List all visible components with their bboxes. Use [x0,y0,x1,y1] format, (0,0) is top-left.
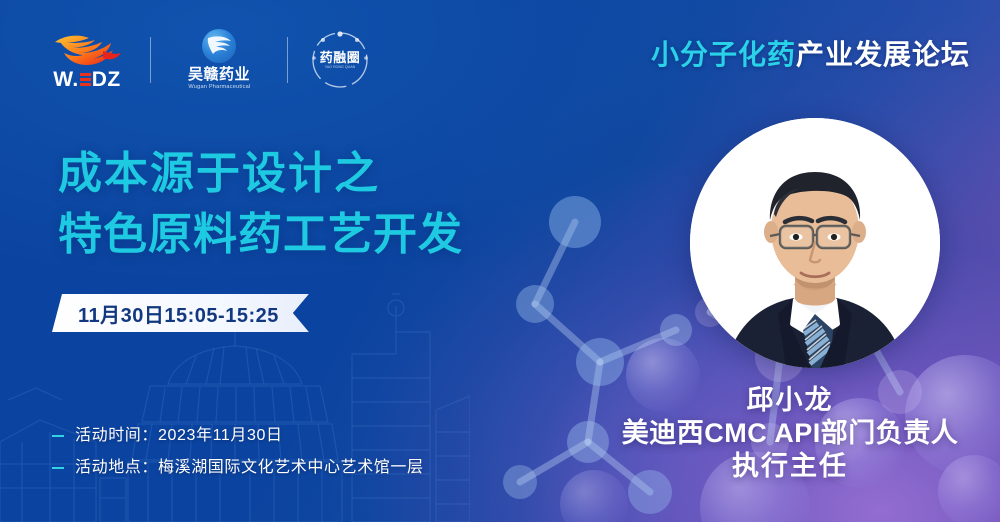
forum-title-rest: 产业发展论坛 [796,39,970,70]
logo-row: W. DZ 吴赣药业 Wugan Pharmaceutical [44,24,372,96]
event-date-label: 活动时间：2023年11月30日 [75,428,283,444]
speaker-name: 邱小龙 [590,384,990,417]
wedz-wordmark-left: W. [53,69,79,90]
logo-wedz[interactable]: W. DZ [44,24,130,96]
wugan-cn-name: 吴赣药业 [188,67,250,82]
session-time-label: 11月30日15:05-15:25 [78,299,279,328]
dash-icon [52,467,64,469]
page-title: 成本源于设计之 特色原料药工艺开发 [58,144,463,265]
dash-icon [52,435,64,437]
logo-divider [150,37,151,83]
wedz-wordmark-right: DZ [92,69,121,90]
session-time-badge: 11月30日15:05-15:25 [52,294,309,332]
forum-title-highlight: 小分子化药 [651,39,796,70]
speaker-role-line-1: 美迪西CMC API部门负责人 [590,417,990,450]
wugan-en-name: Wugan Pharmaceutical [188,85,250,91]
headline-line-2: 特色原料药工艺开发 [58,205,463,266]
speaker-info: 邱小龙 美迪西CMC API部门负责人 执行主任 [590,384,990,484]
wedz-wordmark: W. DZ [53,69,121,90]
forum-title: 小分子化药产业发展论坛 [651,38,970,72]
logo-wugan-pharmaceutical[interactable]: 吴赣药业 Wugan Pharmaceutical [171,24,267,96]
speaker-role-line-2: 执行主任 [590,450,990,483]
triple-bar-icon [80,73,91,86]
event-info-block: 活动时间：2023年11月30日 活动地点：梅溪湖国际文化艺术中心艺术馆一层 [52,428,424,492]
speaker-portrait-wrap [690,118,940,368]
event-venue-label: 活动地点：梅溪湖国际文化艺术中心艺术馆一层 [75,460,424,476]
event-banner: W. DZ 吴赣药业 Wugan Pharmaceutical [0,0,1000,522]
logo-yaorongquan[interactable]: 药融圈 YAO RONG QUAN [308,24,372,96]
yaorongquan-en-name: YAO RONG QUAN [325,66,355,70]
event-venue-line: 活动地点：梅溪湖国际文化艺术中心艺术馆一层 [52,460,424,476]
headline-line-1: 成本源于设计之 [58,144,463,205]
yaorongquan-cn-name: 药融圈 [320,51,361,64]
logo-divider [287,37,288,83]
phoenix-flame-icon [51,31,123,67]
avatar [690,118,940,368]
globe-swirl-icon [202,29,236,63]
event-date-line: 活动时间：2023年11月30日 [52,428,424,444]
